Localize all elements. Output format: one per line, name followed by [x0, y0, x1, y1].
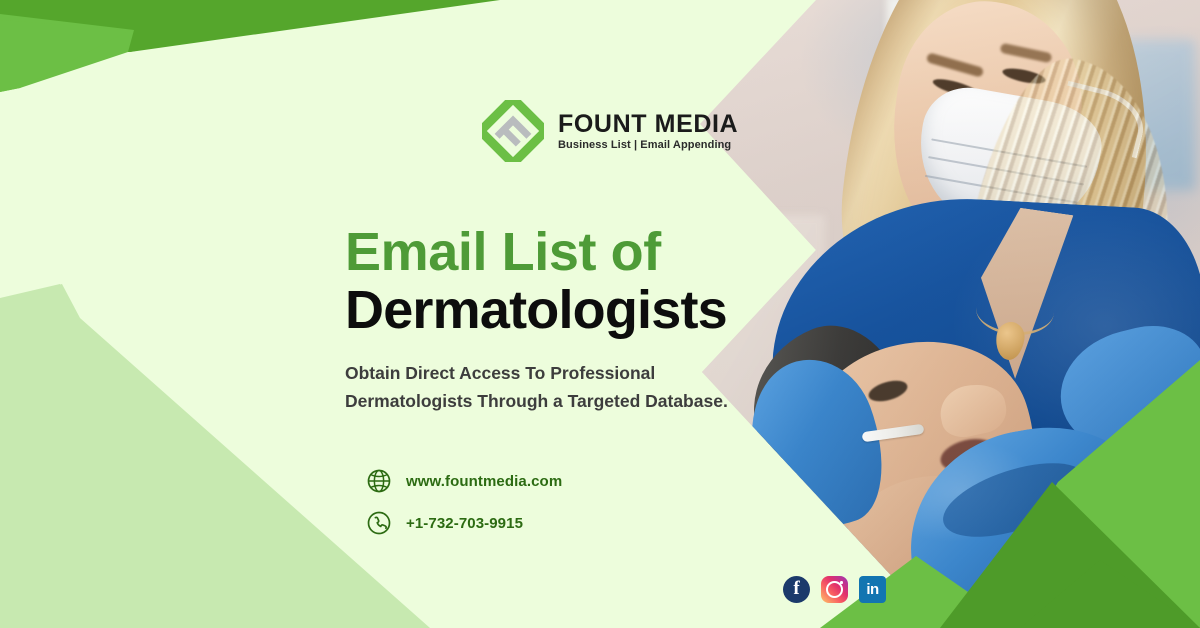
website-text: www.fountmedia.com — [406, 473, 562, 490]
brand-name: FOUNT MEDIA — [558, 112, 738, 137]
globe-icon — [366, 468, 392, 494]
brand-tagline: Business List | Email Appending — [558, 140, 738, 151]
subheadline-line-1: Obtain Direct Access To Professional — [345, 360, 795, 388]
marketing-banner: FOUNT MEDIA Business List | Email Append… — [0, 0, 1200, 628]
subheadline-line-2: Dermatologists Through a Targeted Databa… — [345, 388, 795, 416]
social-links: f in — [783, 576, 886, 603]
phone-in-circle-icon — [366, 510, 392, 536]
headline-line-1: Email List of — [345, 224, 765, 280]
linkedin-icon[interactable]: in — [859, 576, 886, 603]
subheadline: Obtain Direct Access To Professional Der… — [345, 360, 795, 415]
instagram-icon[interactable] — [821, 576, 848, 603]
contact-info: www.fountmedia.com +1-732-703-9915 — [366, 468, 562, 536]
facebook-glyph: f — [793, 579, 799, 598]
phone-text: +1-732-703-9915 — [406, 515, 523, 532]
page-title: Email List of Dermatologists — [345, 224, 765, 341]
instagram-dot — [840, 581, 843, 584]
facebook-icon[interactable]: f — [783, 576, 810, 603]
contact-row-phone[interactable]: +1-732-703-9915 — [366, 510, 562, 536]
headline-line-2: Dermatologists — [345, 280, 765, 340]
linkedin-glyph: in — [866, 582, 878, 597]
brand-logo-text: FOUNT MEDIA Business List | Email Append… — [558, 112, 738, 151]
fount-media-diamond-logo-icon — [482, 100, 544, 162]
contact-row-website[interactable]: www.fountmedia.com — [366, 468, 562, 494]
brand-logo[interactable]: FOUNT MEDIA Business List | Email Append… — [482, 100, 738, 162]
